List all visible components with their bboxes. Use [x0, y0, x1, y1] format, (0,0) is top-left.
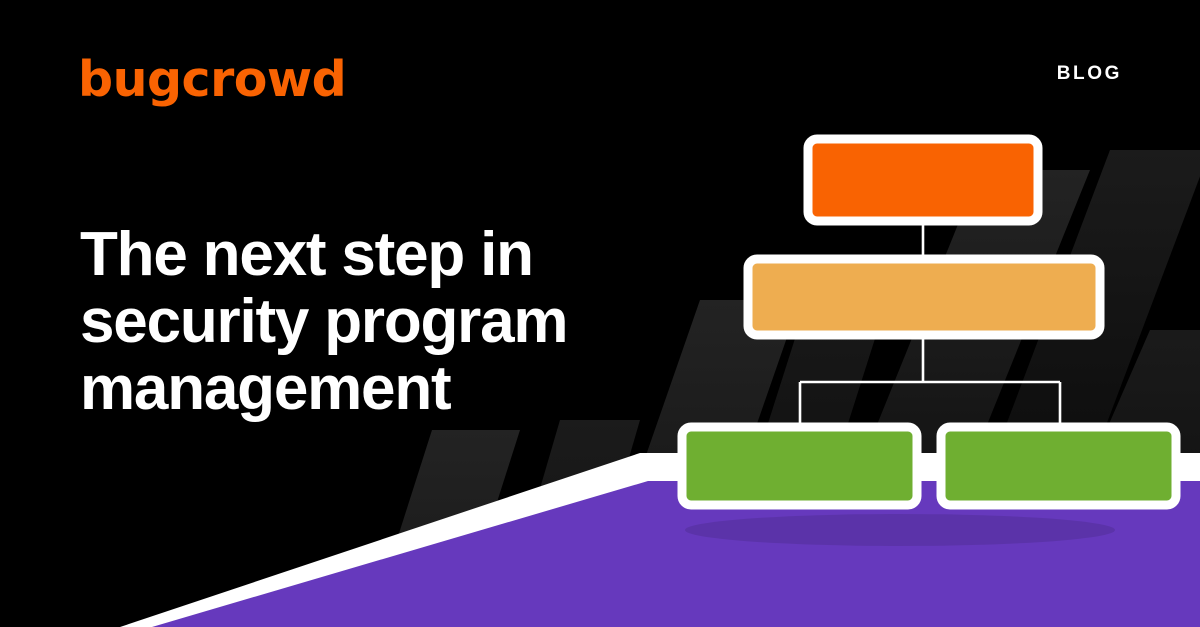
chart-node-second — [748, 259, 1100, 335]
page-title: The next step in security program manage… — [80, 222, 700, 423]
bugcrowd-logo[interactable]: bugcrowd — [78, 55, 346, 104]
blog-category-label: BLOG — [1057, 64, 1122, 83]
chart-node-top — [808, 139, 1038, 221]
chart-node-right-leaf — [941, 427, 1176, 505]
org-chart-diagram — [640, 120, 1200, 520]
chart-node-left-leaf — [682, 427, 917, 505]
blog-hero-banner: bugcrowd BLOG The next step in security … — [0, 0, 1200, 627]
